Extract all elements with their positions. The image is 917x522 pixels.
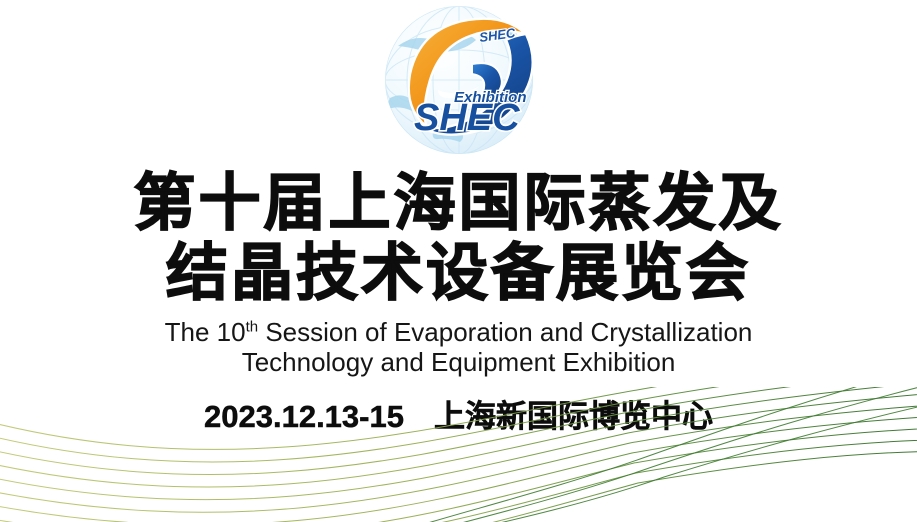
en-title-suffix: Session of Evaporation and Crystallizati… <box>258 317 752 347</box>
logo-wordmark-text: SHEC <box>414 97 520 139</box>
en-title-prefix: The 10 <box>165 317 246 347</box>
event-date: 2023.12.13-15 <box>204 399 404 434</box>
page-title-cn-line-2: 结晶技术设备展览会 <box>0 240 917 308</box>
exhibition-poster: SHEC Exhibition SHEC 第十届上海国际蒸发及 结晶技术设备展览… <box>0 0 917 522</box>
shec-logo: SHEC Exhibition SHEC <box>376 2 542 158</box>
ordinal-suffix: th <box>246 318 259 335</box>
site-watermark: 聚展 <box>815 466 907 514</box>
page-subtitle-en-line-2: Technology and Equipment Exhibition <box>0 347 917 377</box>
page-subtitle-en-line-1: The 10th Session of Evaporation and Crys… <box>0 317 917 347</box>
page-title-cn-line-1: 第十届上海国际蒸发及 <box>0 170 917 238</box>
event-venue: 上海新国际博览中心 <box>434 399 713 434</box>
event-date-venue: 2023.12.13-15上海新国际博览中心 <box>0 398 917 436</box>
